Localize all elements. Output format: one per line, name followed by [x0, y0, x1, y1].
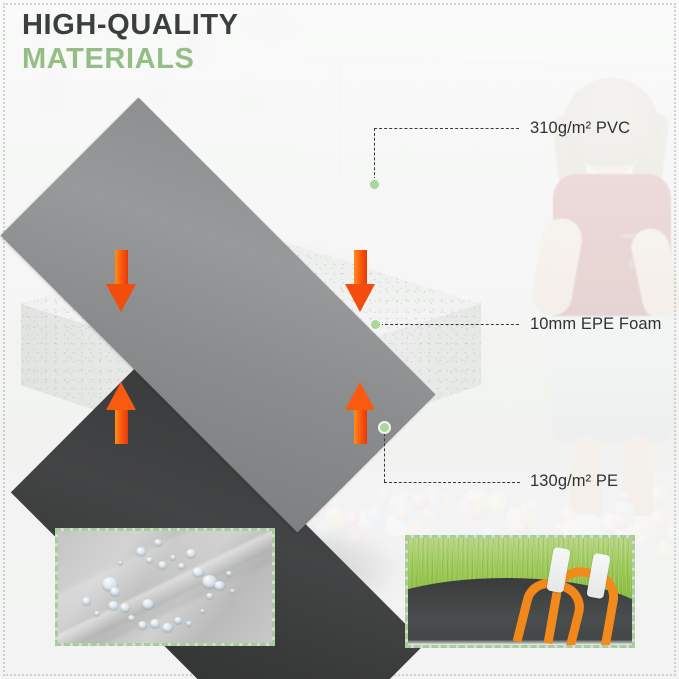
leader-vertical	[374, 128, 375, 180]
layer-pvc-sheet	[8, 105, 428, 525]
arrow-head	[106, 382, 136, 410]
title-line-1: HIGH-QUALITY	[22, 8, 239, 42]
callout-label-pvc: 310g/m² PVC	[530, 119, 630, 138]
marker-dot-pvc	[368, 178, 381, 191]
title-line-2: MATERIALS	[22, 42, 239, 76]
arrow-up-right	[345, 382, 375, 444]
leader-horizontal	[380, 324, 519, 325]
arrow-shaft	[354, 406, 367, 444]
arrow-down-left	[106, 250, 136, 312]
water-droplet	[82, 597, 91, 605]
ball	[648, 510, 670, 532]
leader-vertical	[384, 428, 385, 482]
water-droplet	[154, 539, 162, 546]
child-shorts	[551, 316, 673, 442]
callout-label-foam: 10mm EPE Foam	[530, 315, 662, 334]
arrow-shaft	[115, 406, 128, 444]
ball	[613, 513, 629, 529]
water-droplet	[178, 563, 185, 569]
arrow-shaft	[115, 250, 128, 288]
water-droplet	[158, 561, 167, 569]
arrow-shaft	[354, 250, 367, 288]
ball	[656, 541, 673, 558]
water-droplet	[128, 615, 135, 621]
water-droplet	[206, 593, 213, 599]
water-droplet	[136, 547, 146, 556]
arrow-head	[106, 284, 136, 312]
water-droplet	[150, 619, 160, 628]
water-droplet	[138, 621, 147, 629]
inset-trampoline-straps[interactable]	[405, 535, 635, 648]
marker-dot-pe	[378, 421, 391, 434]
product-feature-image: HIGH-QUALITY MATERIALS	[0, 0, 679, 679]
arrow-down-right	[345, 250, 375, 312]
ball	[620, 491, 632, 503]
material-layer-stack	[0, 110, 500, 510]
pvc-sheet-face	[0, 97, 435, 532]
leader-horizontal	[374, 128, 519, 129]
ball	[637, 533, 653, 549]
arrow-up-left	[106, 382, 136, 444]
water-droplet	[146, 557, 153, 563]
water-droplet	[110, 587, 120, 596]
page-title: HIGH-QUALITY MATERIALS	[22, 8, 239, 76]
ball	[666, 525, 679, 543]
inset-waterproof-fabric[interactable]	[55, 528, 275, 646]
leader-horizontal	[384, 482, 520, 483]
ball	[526, 500, 539, 513]
arrow-head	[345, 382, 375, 410]
ball	[652, 486, 666, 500]
water-droplet	[120, 603, 130, 612]
arrow-head	[345, 284, 375, 312]
marker-dot-foam	[369, 318, 382, 331]
callout-label-pe: 130g/m² PE	[530, 472, 618, 491]
water-droplet	[174, 617, 182, 624]
water-droplet	[186, 549, 196, 558]
